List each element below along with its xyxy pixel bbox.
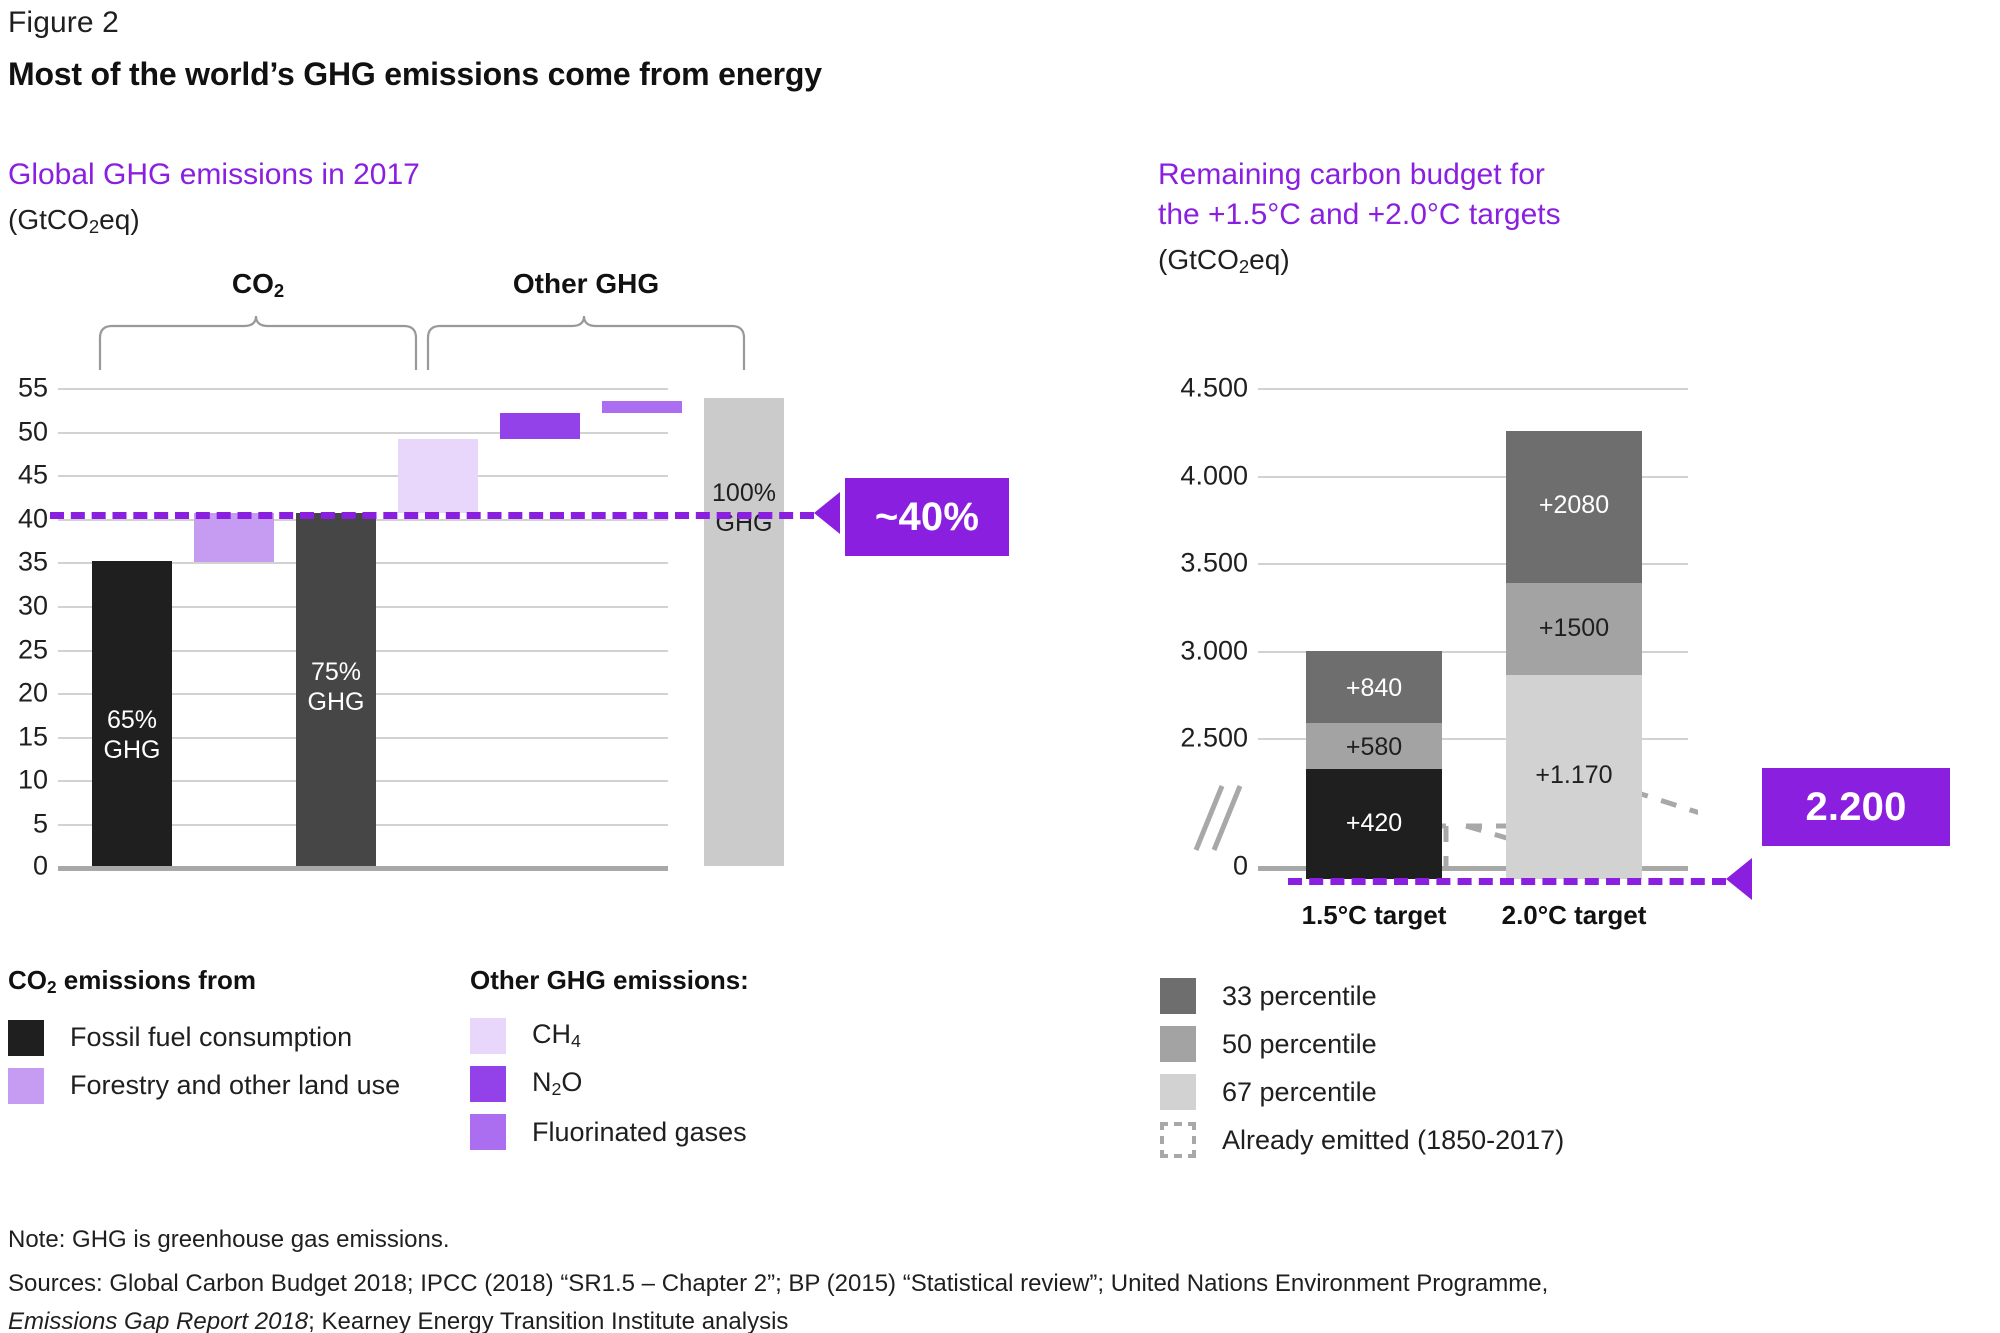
bar-n2o [500, 413, 580, 439]
legend-item-fossil-fuel: Fossil fuel consumption [8, 1014, 400, 1062]
right-panel-title-line2: the +1.5°C and +2.0°C targets [1158, 195, 1561, 235]
legend-label-50-percentile: 50 percentile [1222, 1031, 1377, 1058]
ytick-25: 25 [0, 637, 48, 664]
legend-label-fluorinated-gases: Fluorinated gases [532, 1119, 747, 1146]
callout-2200: 2.200 [1762, 768, 1950, 846]
legend-swatch-n2o [470, 1066, 506, 1102]
ytick-15: 15 [0, 724, 48, 751]
sources-italic-title: Emissions Gap Report 2018 [8, 1308, 308, 1333]
legend-swatch-67-percentile [1160, 1074, 1196, 1110]
right-panel-unit: (GtCO2eq) [1158, 241, 1561, 280]
ytick-4500: 4.500 [1118, 375, 1248, 402]
legend-item-33-percentile: 33 percentile [1160, 972, 1564, 1020]
legend-label-forestry: Forestry and other land use [70, 1072, 400, 1099]
bar-fossil-fuel [92, 561, 172, 866]
ytick-30: 30 [0, 593, 48, 620]
ytick-55: 55 [0, 375, 48, 402]
bar-15c-33pct [1306, 651, 1442, 723]
legend-item-already-emitted: Already emitted (1850-2017) [1160, 1116, 1564, 1164]
legend-swatch-50-percentile [1160, 1026, 1196, 1062]
ytick-0: 0 [0, 853, 48, 880]
sources-rest: ; Kearney Energy Transition Institute an… [308, 1308, 788, 1333]
ytick-3500: 3.500 [1118, 550, 1248, 577]
figure-label: Figure 2 [8, 6, 119, 40]
legend-item-ch4: CH4 [470, 1012, 749, 1060]
brace-other-ghg [426, 312, 746, 372]
legend-swatch-already-emitted [1160, 1122, 1196, 1158]
ytick-40: 40 [0, 506, 48, 533]
legend-swatch-fossil-fuel [8, 1020, 44, 1056]
left-panel-heading: Global GHG emissions in 2017 (GtCO2eq) [8, 155, 420, 240]
footnote-sources-line1: Sources: Global Carbon Budget 2018; IPCC… [8, 1265, 1548, 1303]
left-chart-plot: CO2 Other GHG 55 50 45 40 35 30 25 20 15… [58, 300, 830, 880]
legend-label-33-percentile: 33 percentile [1222, 983, 1377, 1010]
ytick-5: 5 [0, 811, 48, 838]
ytick-4000: 4.000 [1118, 463, 1248, 490]
axis-break-icon [1188, 780, 1252, 858]
ytick-50: 50 [0, 419, 48, 446]
legend-label-fossil-fuel: Fossil fuel consumption [70, 1024, 352, 1051]
left-panel-unit: (GtCO2eq) [8, 201, 420, 240]
left-panel-title: Global GHG emissions in 2017 [8, 155, 420, 195]
legend-label-already-emitted: Already emitted (1850-2017) [1222, 1127, 1564, 1154]
legend-item-forestry: Forestry and other land use [8, 1062, 400, 1110]
ytick-2500: 2.500 [1118, 725, 1248, 752]
figure-page: Figure 2 Most of the world’s GHG emissio… [0, 0, 2000, 1333]
bar-co2-total [296, 513, 376, 866]
legend-swatch-fluorinated-gases [470, 1114, 506, 1150]
footnote-sources-line2: Emissions Gap Report 2018; Kearney Energ… [8, 1303, 788, 1333]
legend-swatch-ch4 [470, 1018, 506, 1054]
gridline-55 [58, 388, 668, 390]
legend-carbon-budget: 33 percentile 50 percentile 67 percentil… [1160, 972, 1564, 1164]
legend-item-50-percentile: 50 percentile [1160, 1020, 1564, 1068]
brace-label-other-ghg: Other GHG [426, 268, 746, 300]
legend-item-n2o: N2O [470, 1060, 749, 1108]
bar-20c-50pct [1506, 583, 1642, 675]
reference-arrow-40pct [814, 492, 840, 534]
legend-other-ghg-emissions: Other GHG emissions: CH4 N2O Fluorinated… [470, 965, 749, 1156]
ytick-3000: 3.000 [1118, 638, 1248, 665]
legend-label-67-percentile: 67 percentile [1222, 1079, 1377, 1106]
axis-baseline-left [58, 866, 668, 871]
bar-total-ghg [704, 398, 784, 866]
ytick-45: 45 [0, 462, 48, 489]
legend-item-67-percentile: 67 percentile [1160, 1068, 1564, 1116]
legend-co2-emissions: CO2 emissions from Fossil fuel consumpti… [8, 965, 400, 1110]
ytick-20: 20 [0, 680, 48, 707]
ytick-10: 10 [0, 767, 48, 794]
reference-line-40pct [50, 512, 814, 519]
gridline-4500 [1258, 388, 1688, 390]
footnote-note: Note: GHG is greenhouse gas emissions. [8, 1222, 450, 1258]
bar-forestry [194, 513, 274, 562]
gridline-45 [58, 475, 668, 477]
legend-swatch-forestry [8, 1068, 44, 1104]
right-chart-plot: 4.500 4.000 3.500 3.000 2.500 0 [1258, 300, 1778, 880]
legend-label-n2o: N2O [532, 1069, 582, 1099]
callout-40-percent: ~40% [845, 478, 1009, 556]
legend-item-fluorinated-gases: Fluorinated gases [470, 1108, 749, 1156]
reference-arrow-2200 [1726, 858, 1752, 900]
bar-15c-50pct [1306, 723, 1442, 769]
figure-title: Most of the world’s GHG emissions come f… [8, 56, 822, 93]
right-panel-heading: Remaining carbon budget for the +1.5°C a… [1158, 155, 1561, 280]
bar-20c-33pct [1506, 431, 1642, 583]
bar-ch4 [398, 439, 478, 513]
legend-title-other-ghg: Other GHG emissions: [470, 965, 749, 996]
brace-co2 [98, 312, 418, 372]
legend-swatch-33-percentile [1160, 978, 1196, 1014]
xcat-15c-target: 1.5°C target [1286, 900, 1462, 931]
right-panel-title-line1: Remaining carbon budget for [1158, 155, 1561, 195]
bar-20c-67pct [1506, 675, 1642, 879]
ytick-35: 35 [0, 549, 48, 576]
brace-label-co2: CO2 [98, 268, 418, 302]
bar-fluorinated-gases [602, 401, 682, 413]
legend-title-co2: CO2 emissions from [8, 965, 400, 998]
bar-15c-67pct [1306, 769, 1442, 879]
legend-label-ch4: CH4 [532, 1021, 581, 1051]
xcat-20c-target: 2.0°C target [1486, 900, 1662, 931]
reference-line-2200 [1288, 878, 1726, 885]
